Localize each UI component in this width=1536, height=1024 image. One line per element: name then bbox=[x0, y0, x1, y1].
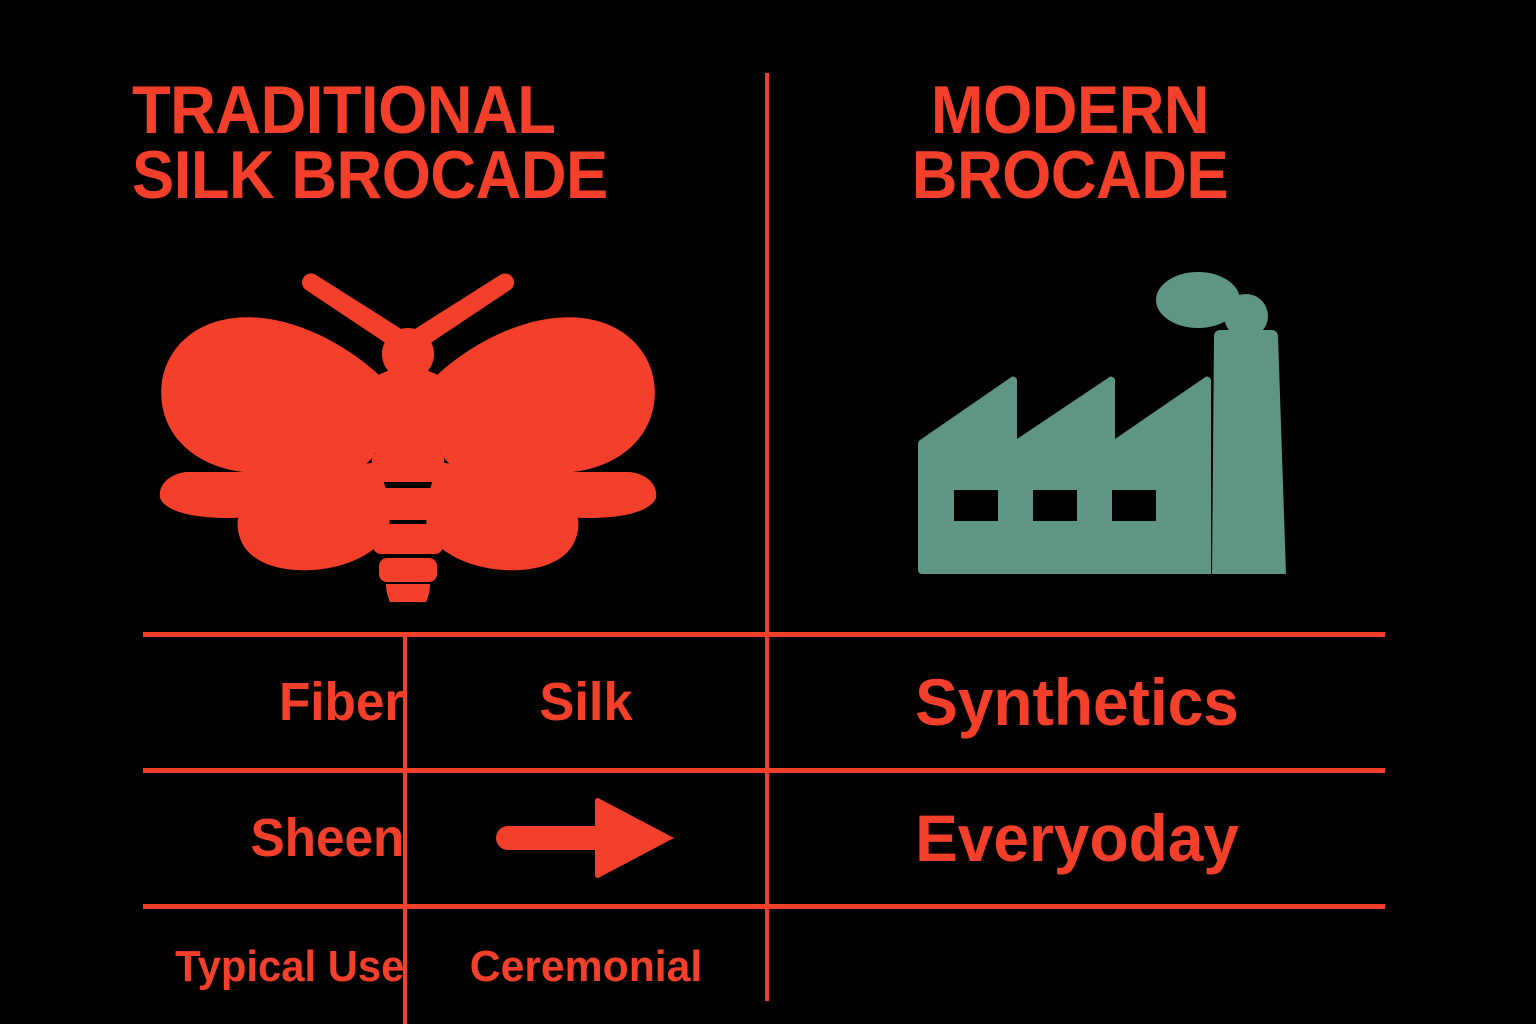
comparison-infographic: TRADITIONAL SILK BROCADE MODERN BROCADE bbox=[0, 0, 1536, 1024]
factory-icon bbox=[898, 268, 1318, 608]
right-heading-line-1: MODERN bbox=[819, 78, 1321, 143]
table-row-label-sheen: Sheen bbox=[157, 773, 431, 903]
left-column-heading: TRADITIONAL SILK BROCADE bbox=[132, 78, 690, 207]
table-cell-traditional-typical-use: Ceremonial bbox=[412, 909, 759, 1024]
left-heading-line-1: TRADITIONAL bbox=[132, 78, 690, 143]
right-heading-line-2: BROCADE bbox=[819, 143, 1321, 208]
table-row-label-typical-use: Typical Use bbox=[138, 909, 431, 1024]
table-cell-modern-sheen: Everyoday bbox=[778, 773, 1376, 903]
table-cell-modern-typical-use bbox=[778, 909, 1376, 1024]
column-divider-center bbox=[765, 73, 769, 1001]
right-column-heading: MODERN BROCADE bbox=[819, 78, 1321, 207]
left-heading-line-2: SILK BROCADE bbox=[132, 143, 690, 208]
table-cell-traditional-fiber: Silk bbox=[412, 637, 759, 767]
table-row-label-fiber: Fiber bbox=[157, 637, 431, 767]
silk-moth-icon bbox=[148, 272, 668, 602]
table-cell-modern-fiber: Synthetics bbox=[778, 637, 1376, 767]
arrow-right-icon bbox=[407, 773, 765, 903]
